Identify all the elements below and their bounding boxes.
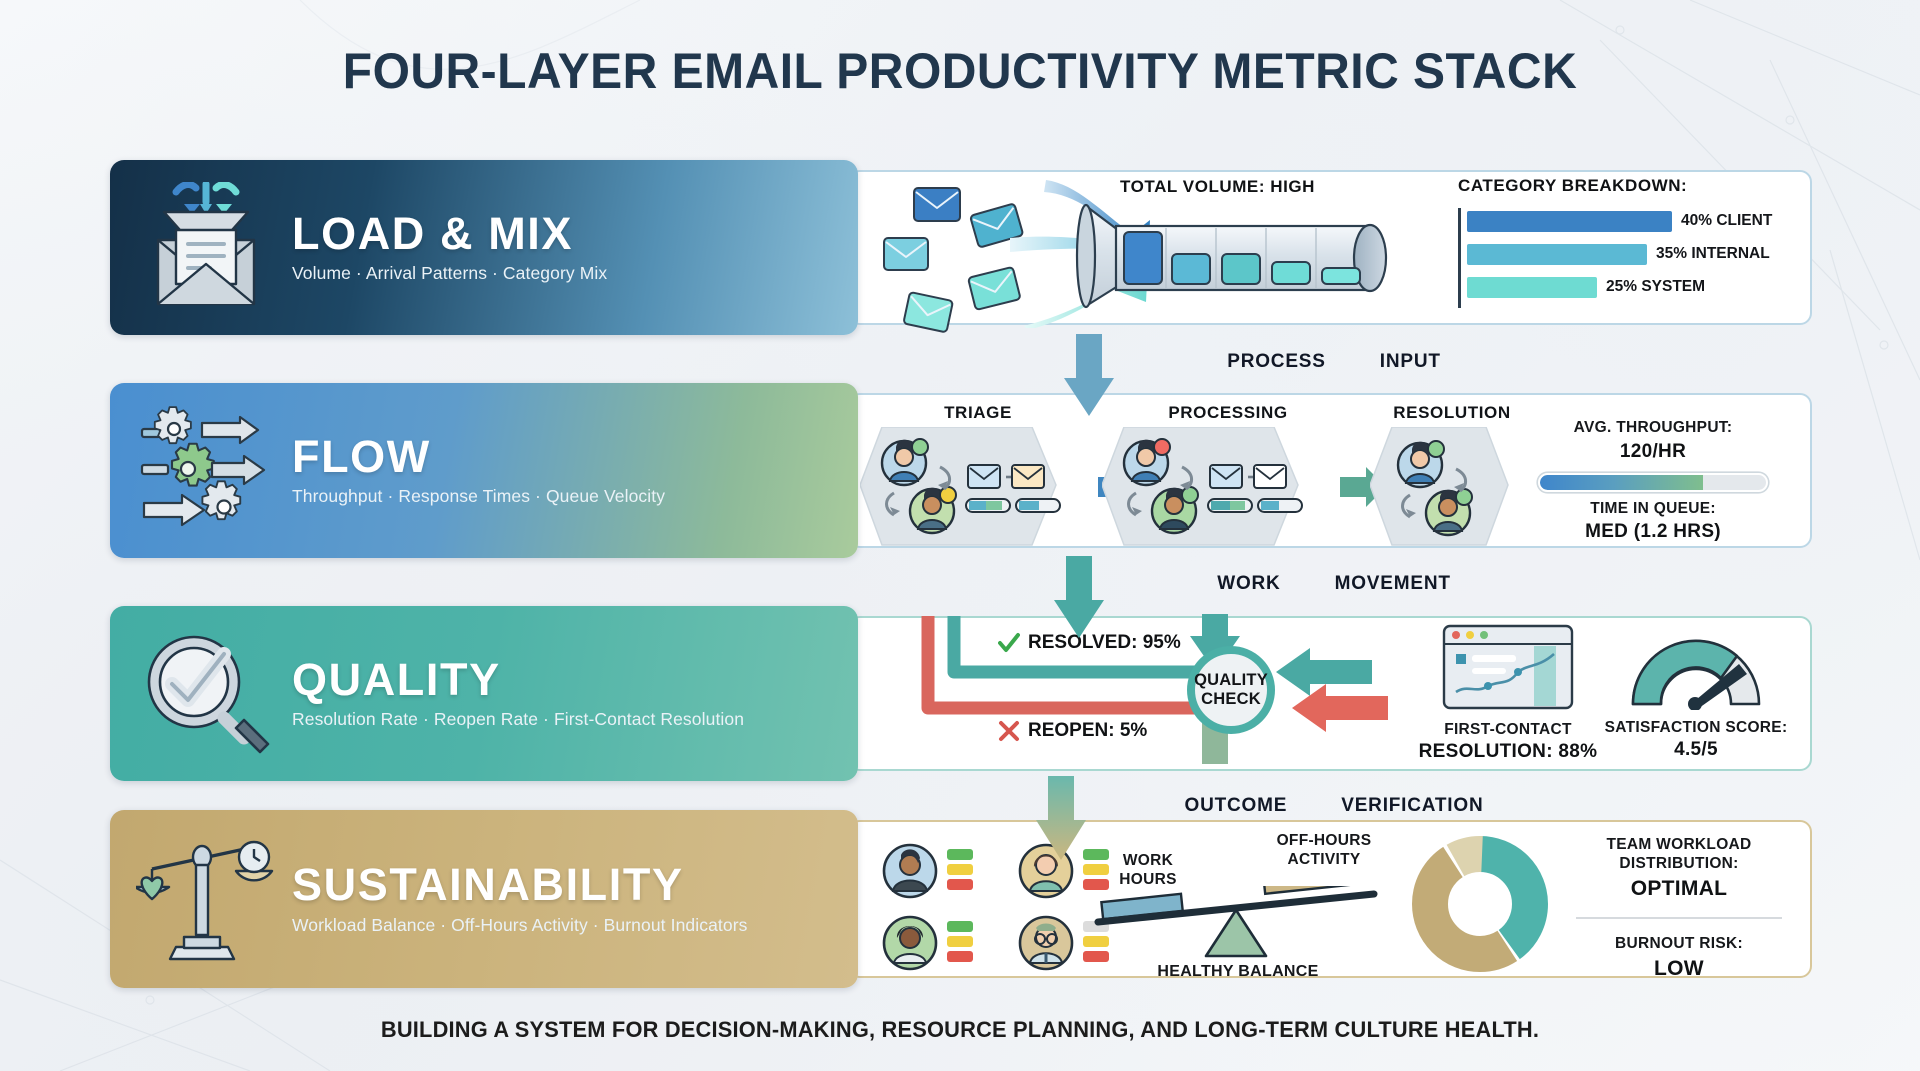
category-label: 35% INTERNAL xyxy=(1656,245,1770,263)
satisfaction-label: SATISFACTION SCORE: xyxy=(1598,719,1794,738)
layer-subtitle: Resolution Rate · Reopen Rate · First-Co… xyxy=(292,709,744,730)
reopen-stat: REOPEN: 5% xyxy=(998,720,1147,742)
first-contact-resolution-stat: FIRST-CONTACT RESOLUTION: 88% xyxy=(1418,624,1598,763)
stage-label-resolution: RESOLUTION xyxy=(1362,403,1542,423)
page-title: FOUR-LAYER EMAIL PRODUCTIVITY METRIC STA… xyxy=(38,42,1881,100)
connector-label-left: WORK xyxy=(1217,573,1280,594)
connector-label-right: VERIFICATION xyxy=(1341,795,1483,816)
layer-quality[interactable]: QUALITY CHECK RESOLVED: 95% REOPEN: 5% xyxy=(110,606,1812,781)
satisfaction-value: 4.5/5 xyxy=(1598,738,1794,761)
list-item xyxy=(880,838,1006,904)
footer-caption: BUILDING A SYSTEM FOR DECISION-MAKING, R… xyxy=(29,1017,1891,1043)
burnout-label: BURNOUT RISK: xyxy=(1564,935,1794,954)
divider xyxy=(1576,917,1782,919)
work-hours-label: WORKHOURS xyxy=(1096,852,1200,890)
burnout-value: LOW xyxy=(1564,956,1794,982)
layer-title: QUALITY xyxy=(292,657,744,703)
x-icon xyxy=(998,720,1020,742)
flow-stage-triage xyxy=(860,427,1104,547)
workload-label-line1: TEAM WORKLOAD xyxy=(1564,836,1794,855)
workload-value: OPTIMAL xyxy=(1564,876,1794,902)
quality-hub-line1: QUALITY xyxy=(1194,671,1268,690)
workload-label-line2: DISTRIBUTION: xyxy=(1564,855,1794,874)
flow-panel: TRIAGE PROCESSING RESOLUTION xyxy=(848,393,1812,548)
infographic-canvas: FOUR-LAYER EMAIL PRODUCTIVITY METRIC STA… xyxy=(0,0,1920,1071)
volume-pipe xyxy=(1070,200,1400,312)
throughput-value: 120/HR xyxy=(1522,440,1784,463)
layer-subtitle: Workload Balance · Off-Hours Activity · … xyxy=(292,915,747,936)
status-chip xyxy=(947,921,973,932)
sustainability-panel: WORKHOURS OFF-HOURSACTIVITY HEALTHY BALA… xyxy=(848,820,1812,978)
work-life-balance-seesaw: WORKHOURS OFF-HOURSACTIVITY HEALTHY BALA… xyxy=(1088,830,1388,980)
layer-subtitle: Volume · Arrival Patterns · Category Mix xyxy=(292,263,607,284)
total-volume-label: TOTAL VOLUME: HIGH xyxy=(1120,177,1315,197)
satisfaction-stat: SATISFACTION SCORE: 4.5/5 xyxy=(1598,628,1794,761)
check-icon xyxy=(998,632,1020,654)
funnel-envelope-icon xyxy=(136,182,276,314)
layer-title: SUSTAINABILITY xyxy=(292,862,747,908)
avatar xyxy=(1016,913,1076,973)
donut-chart xyxy=(1412,836,1548,972)
quality-hub-line2: CHECK xyxy=(1201,690,1261,709)
category-breakdown: CATEGORY BREAKDOWN: 40% CLIENT 35% INTER… xyxy=(1458,176,1778,309)
stage-label-triage: TRIAGE xyxy=(888,403,1068,423)
category-breakdown-header: CATEGORY BREAKDOWN: xyxy=(1458,176,1778,196)
connector-label-right: INPUT xyxy=(1380,351,1441,372)
layer-title: LOAD & MIX xyxy=(292,211,607,257)
connector-label-left: PROCESS xyxy=(1227,351,1326,372)
connector-process-input: PROCESSINPUT xyxy=(856,342,1812,382)
queue-value: MED (1.2 HRS) xyxy=(1522,520,1784,543)
status-chip xyxy=(947,936,973,947)
magnifier-check-icon xyxy=(136,628,276,760)
avatar xyxy=(880,913,940,973)
avatar xyxy=(880,841,940,901)
throughput-label: AVG. THROUGHPUT: xyxy=(1522,419,1784,438)
offhours-label: OFF-HOURSACTIVITY xyxy=(1260,832,1388,870)
quality-panel: QUALITY CHECK RESOLVED: 95% REOPEN: 5% xyxy=(848,616,1812,771)
down-arrow-icon xyxy=(1034,776,1088,862)
reopen-label: REOPEN: 5% xyxy=(1028,720,1147,742)
layer-sustainability[interactable]: WORKHOURS OFF-HOURSACTIVITY HEALTHY BALA… xyxy=(110,810,1812,988)
stage-label-processing: PROCESSING xyxy=(1128,403,1328,423)
connector-label-left: OUTCOME xyxy=(1185,795,1288,816)
flow-stage-resolution xyxy=(1370,427,1530,547)
connector-work-movement: WORKMOVEMENT xyxy=(856,564,1812,604)
layer-subtitle: Throughput · Response Times · Queue Velo… xyxy=(292,486,665,507)
throughput-stats: AVG. THROUGHPUT: 120/HR TIME IN QUEUE: M… xyxy=(1522,419,1784,543)
flow-stage-processing xyxy=(1102,427,1346,547)
workload-stats: TEAM WORKLOAD DISTRIBUTION: OPTIMAL BURN… xyxy=(1564,836,1794,982)
down-arrow-icon xyxy=(1062,334,1116,420)
down-arrow-icon xyxy=(1052,556,1106,642)
gauge-icon xyxy=(1621,628,1771,710)
status-chip xyxy=(947,849,973,860)
status-chip xyxy=(947,879,973,890)
load-panel: TOTAL VOLUME: HIGH CATEGORY BREAKDOWN: 4… xyxy=(848,170,1812,325)
status-chip xyxy=(947,951,973,962)
workload-donut-chart xyxy=(1412,836,1548,977)
layer-band-quality[interactable]: QUALITY Resolution Rate · Reopen Rate · … xyxy=(110,606,858,781)
balance-scale-icon xyxy=(136,833,276,965)
gears-arrows-icon xyxy=(136,405,276,537)
list-item xyxy=(880,910,1006,976)
layer-title: FLOW xyxy=(292,434,665,480)
queue-progress-bar xyxy=(1538,473,1768,492)
connector-label-right: MOVEMENT xyxy=(1335,573,1451,594)
category-row: 25% SYSTEM xyxy=(1467,276,1778,298)
category-label: 40% CLIENT xyxy=(1681,212,1772,230)
category-bar xyxy=(1467,244,1647,265)
fcr-label-line2: RESOLUTION: 88% xyxy=(1418,740,1598,763)
layer-band-load-mix[interactable]: LOAD & MIX Volume · Arrival Patterns · C… xyxy=(110,160,858,335)
category-row: 35% INTERNAL xyxy=(1467,243,1778,265)
connector-outcome-verification: OUTCOMEVERIFICATION xyxy=(856,786,1812,826)
layer-band-flow[interactable]: FLOW Throughput · Response Times · Queue… xyxy=(110,383,858,558)
status-chip xyxy=(947,864,973,875)
category-label: 25% SYSTEM xyxy=(1606,278,1705,296)
category-bar xyxy=(1467,211,1672,232)
category-row: 40% CLIENT xyxy=(1467,210,1778,232)
layer-flow[interactable]: TRIAGE PROCESSING RESOLUTION xyxy=(110,383,1812,558)
dashboard-chart-icon xyxy=(1442,624,1574,710)
queue-label: TIME IN QUEUE: xyxy=(1522,500,1784,519)
category-bar xyxy=(1467,277,1597,298)
healthy-balance-label: HEALTHY BALANCE xyxy=(1128,962,1348,982)
layer-load-mix[interactable]: TOTAL VOLUME: HIGH CATEGORY BREAKDOWN: 4… xyxy=(110,160,1812,335)
quality-check-hub: QUALITY CHECK xyxy=(1187,646,1275,734)
layer-band-sustainability[interactable]: SUSTAINABILITY Workload Balance · Off-Ho… xyxy=(110,810,858,988)
fcr-label-line1: FIRST-CONTACT xyxy=(1418,721,1598,740)
